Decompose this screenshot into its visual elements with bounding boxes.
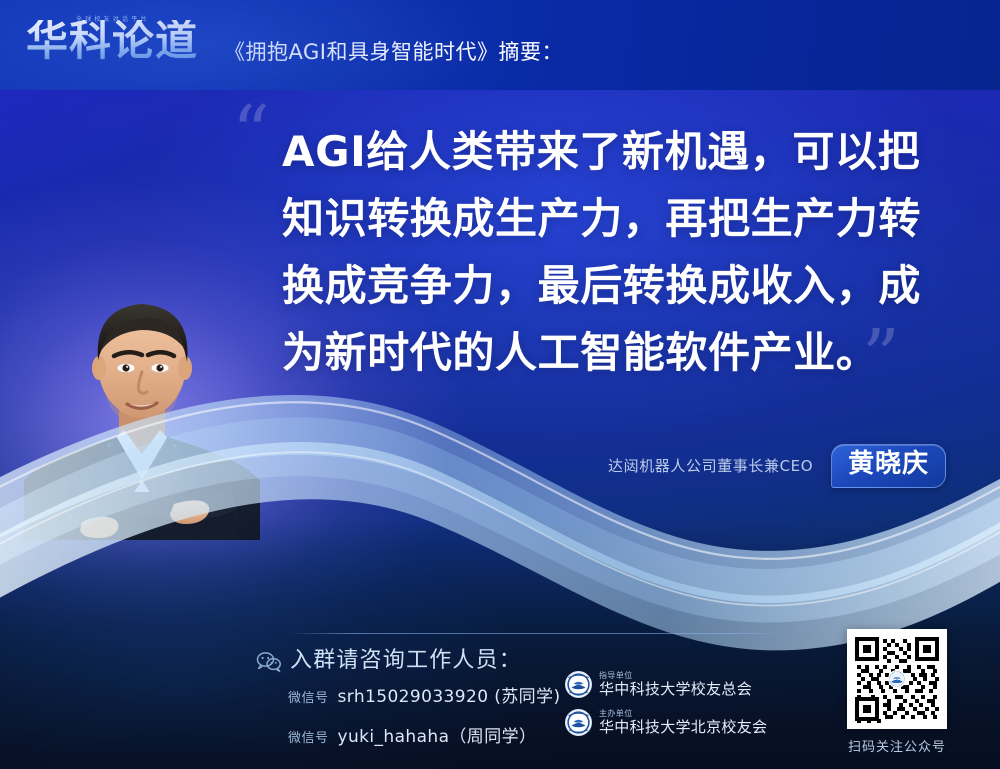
- quote-body: AGI给人类带来了新机遇，可以把 知识转换成生产力，再把生产力转 换成竞争力，最…: [282, 118, 942, 386]
- contact-label: 微信号: [288, 727, 329, 746]
- header-title: 《拥抱AGI和具身智能时代》摘要：: [224, 36, 563, 66]
- qr-caption: 扫码关注公众号: [838, 736, 956, 755]
- poster-canvas: 全球校友对话平台 华科论道 《拥抱AGI和具身智能时代》摘要：: [0, 0, 1000, 769]
- speaker-portrait: [24, 278, 260, 540]
- quote-line: 换成竞争力，最后转换成收入，成: [282, 252, 942, 319]
- contact-value: yuki_hahaha（周同学）: [338, 722, 537, 747]
- hust-seal-icon: [565, 709, 592, 736]
- speaker-role: 达闼机器人公司董事长兼CEO: [608, 455, 813, 476]
- contact-row[interactable]: 微信号 yuki_hahaha（周同学）: [288, 722, 536, 747]
- contact-value: srh15029033920 (苏同学): [338, 682, 561, 707]
- brand-logo[interactable]: 全球校友对话平台 华科论道: [26, 12, 216, 74]
- contact-row[interactable]: 微信号 srh15029033920 (苏同学): [288, 682, 560, 707]
- quote-line: AGI给人类带来了新机遇，可以把: [282, 118, 942, 185]
- brand-tagline: 全球校友对话平台: [76, 14, 150, 23]
- footer-divider: [288, 633, 790, 634]
- quote-open-mark: “: [232, 96, 270, 170]
- quote-line: 为新时代的人工智能软件产业。: [282, 319, 942, 386]
- quote-line: 知识转换成生产力，再把生产力转: [282, 185, 942, 252]
- organizer-kind: 主办单位: [599, 710, 767, 718]
- organizer-text: 主办单位 华中科技大学北京校友会: [599, 710, 767, 735]
- footer-heading: 入群请咨询工作人员：: [290, 642, 522, 674]
- organizer-row: 指导单位 华中科技大学校友总会: [565, 668, 810, 700]
- wechat-icon: [256, 651, 282, 673]
- hust-seal-icon: [565, 671, 592, 698]
- speaker-name-badge: 黄晓庆: [831, 444, 946, 488]
- speaker-attribution: 达闼机器人公司董事长兼CEO 黄晓庆: [608, 444, 946, 488]
- qr-code-icon[interactable]: [847, 629, 947, 729]
- header-bar: 全球校友对话平台 华科论道 《拥抱AGI和具身智能时代》摘要：: [0, 0, 1000, 90]
- organizer-row: 主办单位 华中科技大学北京校友会: [565, 706, 810, 738]
- organizer-text: 指导单位 华中科技大学校友总会: [599, 672, 752, 697]
- organizer-name: 华中科技大学北京校友会: [599, 720, 767, 735]
- organizer-list: 指导单位 华中科技大学校友总会 主办单位 华中科技大学北京校友会: [565, 668, 810, 744]
- brand-logo-text: 华科论道: [26, 20, 198, 62]
- contact-label: 微信号: [288, 687, 329, 706]
- organizer-kind: 指导单位: [599, 672, 752, 680]
- qr-block: 扫码关注公众号: [838, 629, 956, 755]
- organizer-name: 华中科技大学校友总会: [599, 682, 752, 697]
